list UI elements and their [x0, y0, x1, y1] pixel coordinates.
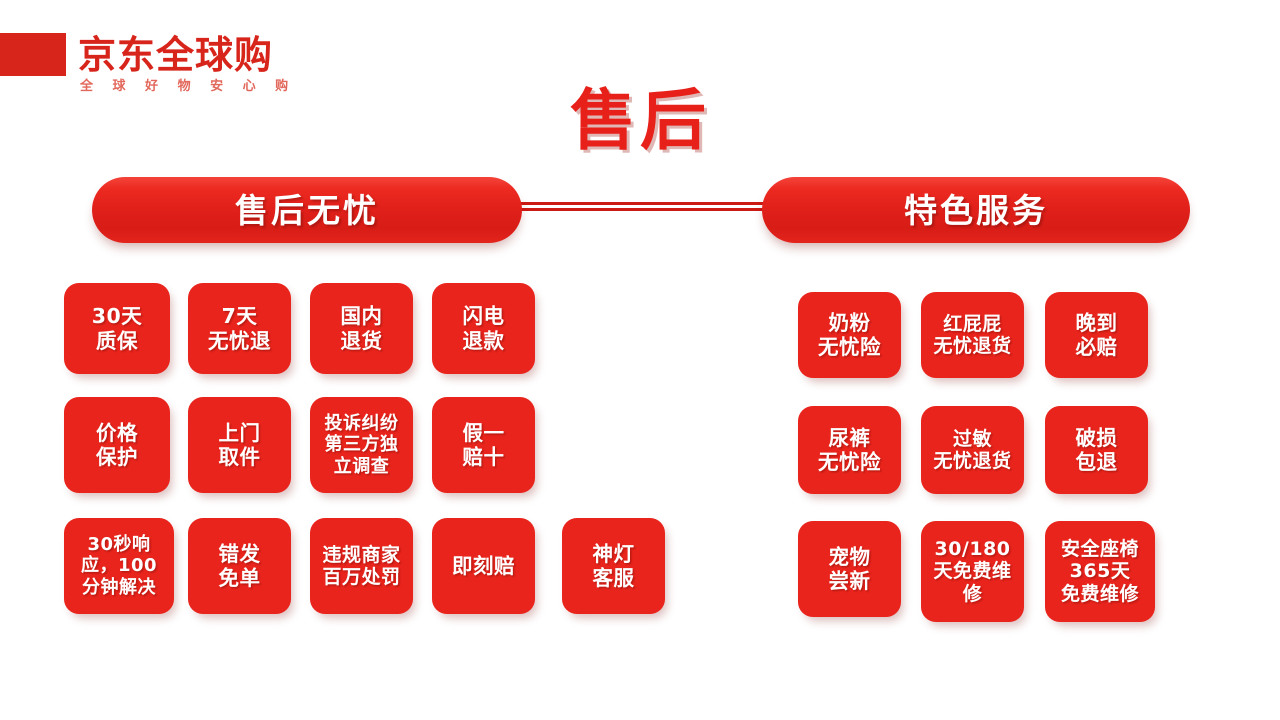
service-tile-flash-refund[interactable]: 闪电 退款 — [432, 283, 535, 374]
service-tile-label: 上门 取件 — [219, 421, 261, 469]
service-tile-7-day-easy-return[interactable]: 7天 无忧退 — [188, 283, 291, 374]
service-tile-magic-lamp-service[interactable]: 神灯 客服 — [562, 518, 665, 614]
service-tile-label: 宠物 尝新 — [829, 545, 871, 593]
service-tile-label: 30天 质保 — [92, 304, 143, 352]
connector-line-top — [500, 202, 790, 205]
service-tile-diaper-insurance[interactable]: 尿裤 无忧险 — [798, 406, 901, 494]
connector-line-bottom — [500, 208, 790, 211]
service-tile-label: 违规商家 百万处罚 — [322, 544, 400, 589]
service-tile-label: 国内 退货 — [341, 304, 383, 352]
service-tile-label: 尿裤 无忧险 — [818, 426, 881, 474]
service-tile-label: 神灯 客服 — [593, 542, 635, 590]
service-tile-instant-compensation[interactable]: 即刻赔 — [432, 518, 535, 614]
service-tile-label: 30/180 天免费维 修 — [933, 538, 1011, 605]
service-tile-allergy-return[interactable]: 过敏 无忧退货 — [921, 406, 1024, 494]
service-tile-label: 错发 免单 — [219, 542, 261, 590]
service-tile-label: 红屁屁 无忧退货 — [933, 313, 1011, 358]
service-tile-label: 价格 保护 — [96, 421, 138, 469]
service-tile-merchant-penalty[interactable]: 违规商家 百万处罚 — [310, 518, 413, 614]
service-tile-damage-return[interactable]: 破损 包退 — [1045, 406, 1148, 494]
section-header-special-services[interactable]: 特色服务 — [762, 177, 1190, 243]
service-tile-late-delivery-compensation[interactable]: 晚到 必赔 — [1045, 292, 1148, 378]
service-tile-label: 30秒响 应，100 分钟解决 — [81, 534, 157, 598]
service-tile-domestic-return[interactable]: 国内 退货 — [310, 283, 413, 374]
service-tile-label: 晚到 必赔 — [1076, 311, 1118, 359]
service-tile-label: 奶粉 无忧险 — [818, 311, 881, 359]
logo-wordmark: 京东全球购 — [78, 36, 273, 74]
service-tile-30-day-warranty[interactable]: 30天 质保 — [64, 283, 170, 374]
service-tile-label: 投诉纠纷 第三方独 立调查 — [325, 413, 399, 477]
service-tile-milk-powder-insurance[interactable]: 奶粉 无忧险 — [798, 292, 901, 378]
service-tile-label: 破损 包退 — [1076, 426, 1118, 474]
service-tile-label: 过敏 无忧退货 — [933, 428, 1011, 473]
section-header-label: 特色服务 — [904, 194, 1048, 227]
service-tile-diaper-rash-return[interactable]: 红屁屁 无忧退货 — [921, 292, 1024, 378]
section-header-after-sales-worry-free[interactable]: 售后无忧 — [92, 177, 522, 243]
logo-mark-square — [0, 33, 66, 76]
service-tile-label: 7天 无忧退 — [208, 304, 271, 352]
service-tile-label: 假一 赔十 — [463, 421, 505, 469]
service-tile-label: 安全座椅 365天 免费维修 — [1061, 538, 1139, 605]
service-tile-wrong-shipment-free[interactable]: 错发 免单 — [188, 518, 291, 614]
service-tile-30-second-response[interactable]: 30秒响 应，100 分钟解决 — [64, 518, 174, 614]
page-title: 售后 — [0, 88, 1280, 154]
service-tile-tenfold-compensation[interactable]: 假一 赔十 — [432, 397, 535, 493]
service-tile-label: 闪电 退款 — [463, 304, 505, 352]
section-connector-line — [500, 202, 790, 211]
service-tile-price-protection[interactable]: 价格 保护 — [64, 397, 170, 493]
service-tile-30-180-day-repair[interactable]: 30/180 天免费维 修 — [921, 521, 1024, 622]
service-tile-label: 即刻赔 — [452, 554, 515, 578]
service-tile-third-party-investigation[interactable]: 投诉纠纷 第三方独 立调查 — [310, 397, 413, 493]
service-tile-pet-food-trial[interactable]: 宠物 尝新 — [798, 521, 901, 617]
service-tile-door-to-door-pickup[interactable]: 上门 取件 — [188, 397, 291, 493]
section-header-label: 售后无忧 — [235, 194, 379, 227]
service-tile-car-seat-365-repair[interactable]: 安全座椅 365天 免费维修 — [1045, 521, 1155, 622]
